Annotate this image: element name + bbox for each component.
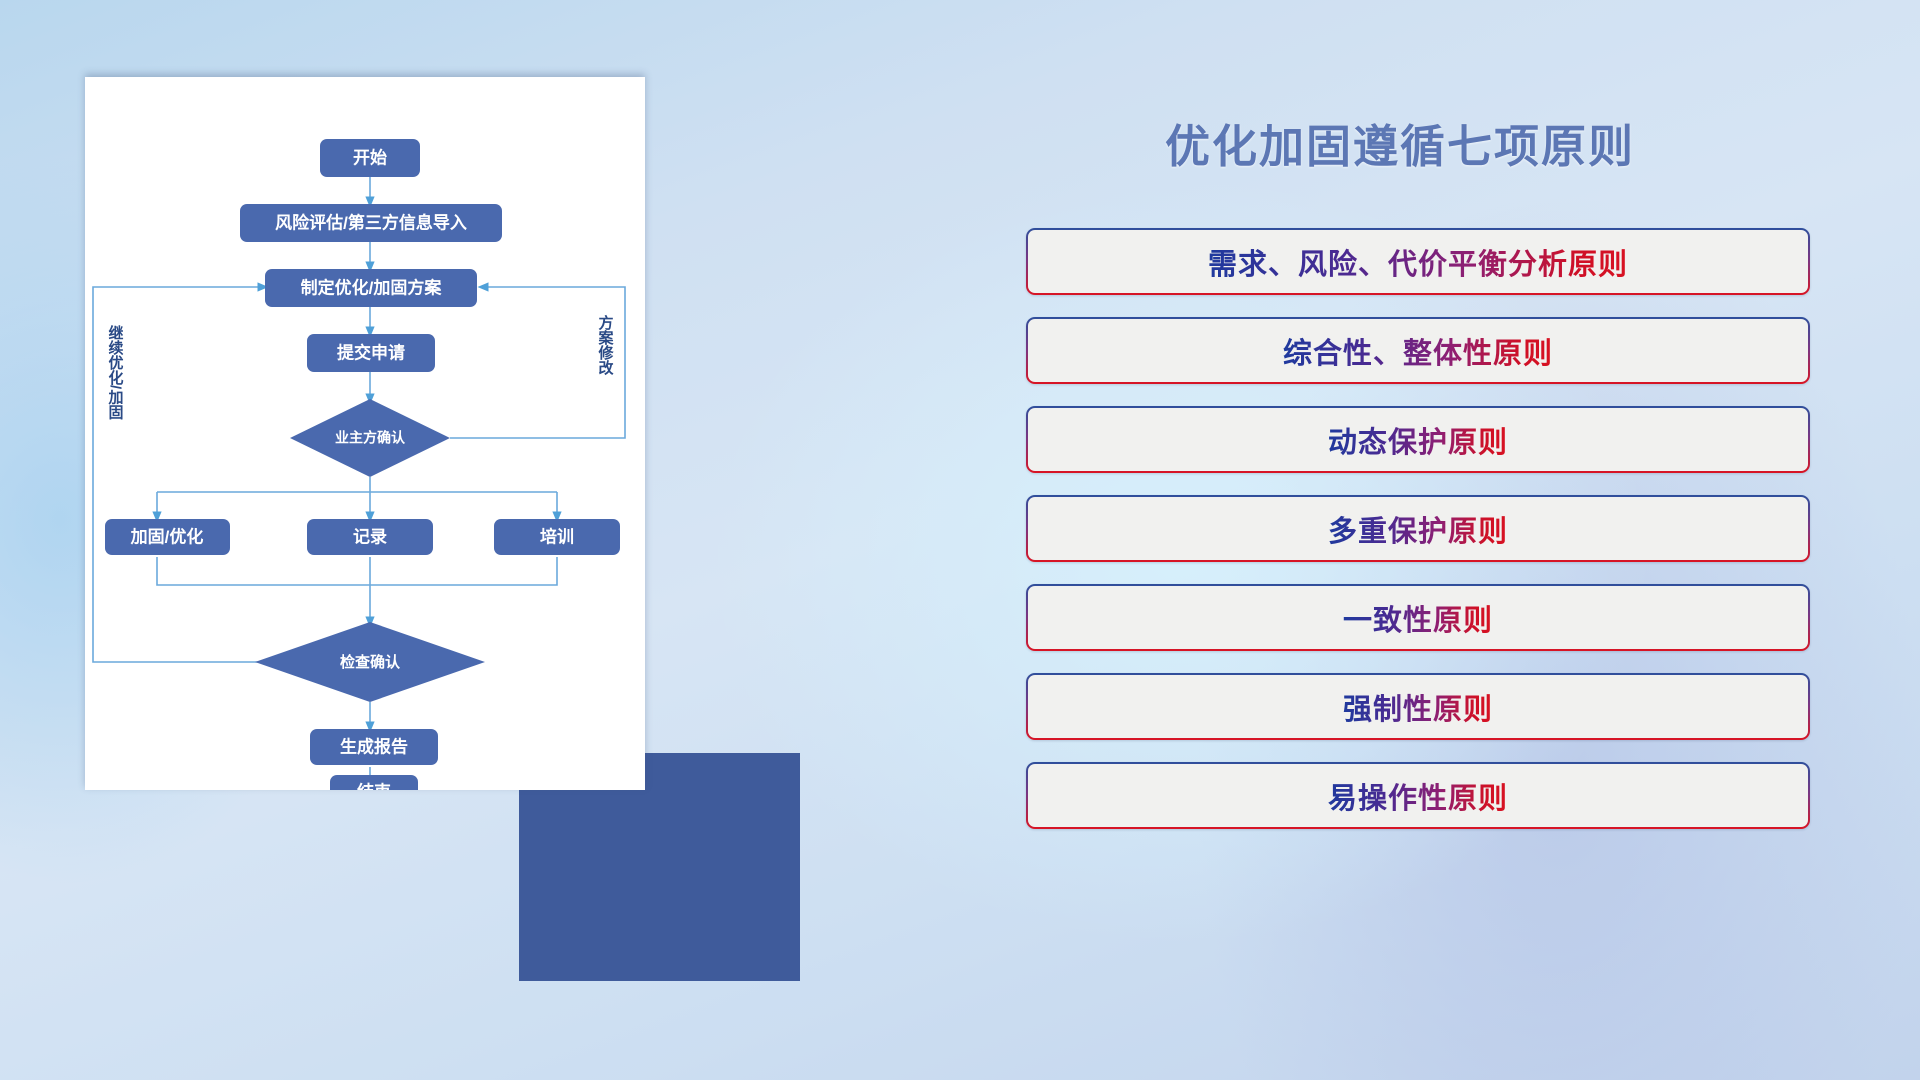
- principle-card-7[interactable]: 易操作性原则: [1026, 762, 1810, 829]
- flow-node-submit[interactable]: 提交申请: [307, 334, 435, 372]
- principle-card-5[interactable]: 一致性原则: [1026, 584, 1810, 651]
- flow-node-owner-confirm[interactable]: 业主方确认: [290, 399, 450, 477]
- principle-card-5-inner: 一致性原则: [1028, 586, 1808, 649]
- flow-node-plan-label: 制定优化/加固方案: [301, 277, 443, 297]
- principle-card-5-label: 一致性原则: [1343, 597, 1493, 639]
- principle-card-3-label: 动态保护原则: [1328, 419, 1508, 461]
- flowchart-svg: 开始 风险评估/第三方信息导入 制定优化/加固方案 提交申请 业主方确认: [85, 77, 645, 790]
- flow-node-report[interactable]: 生成报告: [310, 729, 438, 765]
- flow-edge-label-plan-revision: 方案修改: [597, 314, 615, 376]
- flowchart-nodes: 开始 风险评估/第三方信息导入 制定优化/加固方案 提交申请 业主方确认: [105, 139, 620, 790]
- principle-card-1-label: 需求、风险、代价平衡分析原则: [1208, 241, 1628, 283]
- flow-node-start-label: 开始: [353, 147, 387, 167]
- principle-card-2-label: 综合性、整体性原则: [1283, 330, 1553, 372]
- flow-node-training[interactable]: 培训: [494, 519, 620, 555]
- flow-node-end[interactable]: 结束: [330, 775, 418, 790]
- slide-canvas: 开始 风险评估/第三方信息导入 制定优化/加固方案 提交申请 业主方确认: [0, 0, 1920, 1080]
- flow-node-plan[interactable]: 制定优化/加固方案: [265, 269, 477, 307]
- flow-node-end-label: 结束: [357, 781, 391, 790]
- flow-node-report-label: 生成报告: [340, 736, 408, 756]
- flow-edge-label-continue-optimize: 继续优化/加固: [107, 324, 125, 420]
- flow-node-record[interactable]: 记录: [307, 519, 433, 555]
- principle-card-1-inner: 需求、风险、代价平衡分析原则: [1028, 230, 1808, 293]
- principle-card-7-label: 易操作性原则: [1328, 775, 1508, 817]
- flow-node-submit-label: 提交申请: [337, 342, 405, 362]
- principle-card-4-inner: 多重保护原则: [1028, 497, 1808, 560]
- panel-title: 优化加固遵循七项原则: [1020, 110, 1780, 175]
- principle-card-6[interactable]: 强制性原则: [1026, 673, 1810, 740]
- flow-node-reinforce-label: 加固/优化: [130, 526, 204, 546]
- flow-node-reinforce[interactable]: 加固/优化: [105, 519, 230, 555]
- principle-card-2[interactable]: 综合性、整体性原则: [1026, 317, 1810, 384]
- flow-node-training-label: 培训: [540, 526, 574, 546]
- principle-card-6-inner: 强制性原则: [1028, 675, 1808, 738]
- flow-node-check-confirm-label: 检查确认: [340, 653, 401, 671]
- flow-node-risk-assessment[interactable]: 风险评估/第三方信息导入: [240, 204, 502, 242]
- principle-card-2-inner: 综合性、整体性原则: [1028, 319, 1808, 382]
- flow-node-record-label: 记录: [353, 527, 387, 546]
- flow-node-check-confirm[interactable]: 检查确认: [255, 622, 485, 702]
- flow-node-risk-assessment-label: 风险评估/第三方信息导入: [275, 212, 467, 232]
- principle-card-6-label: 强制性原则: [1343, 686, 1493, 728]
- flow-node-owner-confirm-label: 业主方确认: [335, 430, 406, 446]
- principle-card-4[interactable]: 多重保护原则: [1026, 495, 1810, 562]
- flow-node-start[interactable]: 开始: [320, 139, 420, 177]
- principle-card-7-inner: 易操作性原则: [1028, 764, 1808, 827]
- flowchart-card: 开始 风险评估/第三方信息导入 制定优化/加固方案 提交申请 业主方确认: [85, 77, 645, 790]
- principles-list: 需求、风险、代价平衡分析原则 综合性、整体性原则 动态保护原则 多重保护原则 一…: [1026, 228, 1810, 851]
- principle-card-4-label: 多重保护原则: [1328, 508, 1508, 550]
- principle-card-3[interactable]: 动态保护原则: [1026, 406, 1810, 473]
- principle-card-3-inner: 动态保护原则: [1028, 408, 1808, 471]
- principle-card-1[interactable]: 需求、风险、代价平衡分析原则: [1026, 228, 1810, 295]
